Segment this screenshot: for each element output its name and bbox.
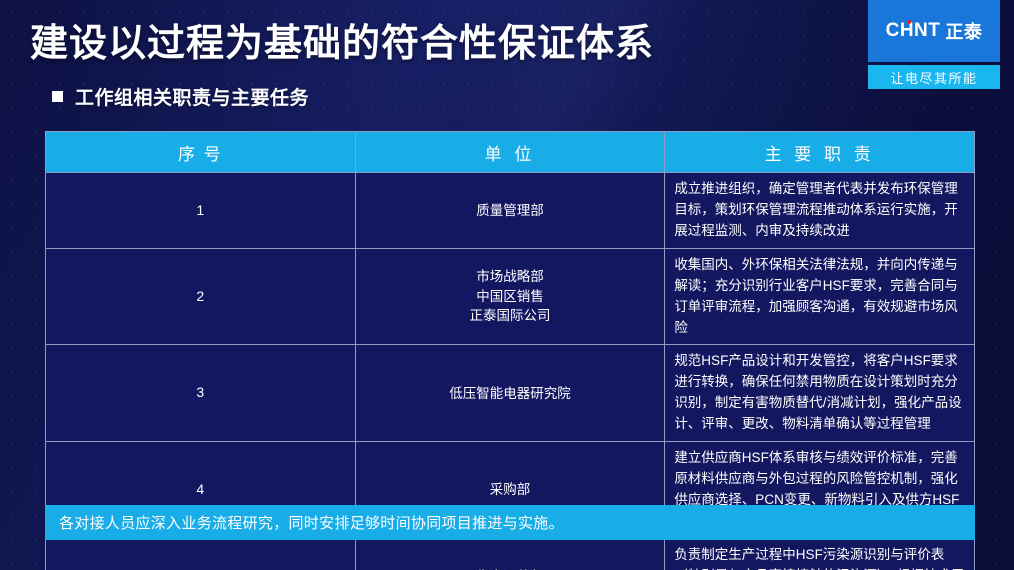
unit-line: 正泰国际公司 [364, 306, 657, 326]
cell-no: 5 [46, 538, 356, 570]
slide-root: 建设以过程为基础的符合性保证体系 CHNT 正泰 让电尽其所能 工作组相关职责与… [0, 0, 1014, 570]
logo-red-dot-icon [907, 20, 911, 24]
subtitle-row: 工作组相关职责与主要任务 [52, 83, 309, 110]
logo-latin-label: CHNT [886, 20, 941, 41]
logo-latin-text: CHNT [886, 20, 941, 42]
cell-no: 3 [46, 345, 356, 442]
cell-duty: 收集国内、外环保相关法律法规，并向内传递与解读；充分识别行业客户HSF要求，完善… [665, 248, 975, 345]
table-row: 3低压智能电器研究院规范HSF产品设计和开发管控，将客户HSF要求进行转换，确保… [46, 345, 975, 442]
unit-line: 低压智能电器研究院 [364, 384, 657, 404]
cell-unit: 生产运营部制造部（公司） [355, 538, 665, 570]
cell-no: 2 [46, 248, 356, 345]
cell-unit: 质量管理部 [355, 173, 665, 249]
cell-duty: 规范HSF产品设计和开发管控，将客户HSF要求进行转换，确保任何禁用物质在设计策… [665, 345, 975, 442]
table-head: 序 号 单 位 主 要 职 责 [46, 132, 975, 173]
square-bullet-icon [52, 91, 63, 102]
unit-line: 市场战略部 [364, 267, 657, 287]
logo-slogan: 让电尽其所能 [868, 65, 1000, 89]
cell-no: 1 [46, 173, 356, 249]
subtitle-label: 工作组相关职责与主要任务 [75, 83, 309, 110]
column-header-duty: 主 要 职 责 [665, 132, 975, 173]
brand-logo: CHNT 正泰 让电尽其所能 [868, 0, 1000, 89]
cell-duty: 成立推进组织，确定管理者代表并发布环保管理目标，策划环保管理流程推动体系运行实施… [665, 173, 975, 249]
page-title: 建设以过程为基础的符合性保证体系 [30, 12, 654, 67]
footer-note-band: 各对接人员应深入业务流程研究，同时安排足够时间协同项目推进与实施。 [45, 505, 975, 540]
column-header-unit: 单 位 [355, 132, 665, 173]
unit-line: 中国区销售 [364, 287, 657, 307]
table-row: 2市场战略部中国区销售正泰国际公司收集国内、外环保相关法律法规，并向内传递与解读… [46, 248, 975, 345]
table-row: 1质量管理部成立推进组织，确定管理者代表并发布环保管理目标，策划环保管理流程推动… [46, 173, 975, 249]
cell-unit: 低压智能电器研究院 [355, 345, 665, 442]
slide-header: 建设以过程为基础的符合性保证体系 CHNT 正泰 让电尽其所能 [0, 0, 1014, 74]
unit-line: 采购部 [364, 480, 657, 500]
unit-line: 质量管理部 [364, 201, 657, 221]
cell-unit: 市场战略部中国区销售正泰国际公司 [355, 248, 665, 345]
table-header-row: 序 号 单 位 主 要 职 责 [46, 132, 975, 173]
footer-note-text: 各对接人员应深入业务流程研究，同时安排足够时间协同项目推进与实施。 [45, 512, 564, 533]
table-row: 5生产运营部制造部（公司）负责制定生产过程中HSF污染源识别与评价表（特别是与产… [46, 538, 975, 570]
logo-mark: CHNT 正泰 [868, 0, 1000, 62]
column-header-no: 序 号 [46, 132, 356, 173]
cell-duty: 负责制定生产过程中HSF污染源识别与评价表（特别是与产品直接接触的污染源），根据… [665, 538, 975, 570]
logo-chinese-label: 正泰 [945, 18, 982, 44]
